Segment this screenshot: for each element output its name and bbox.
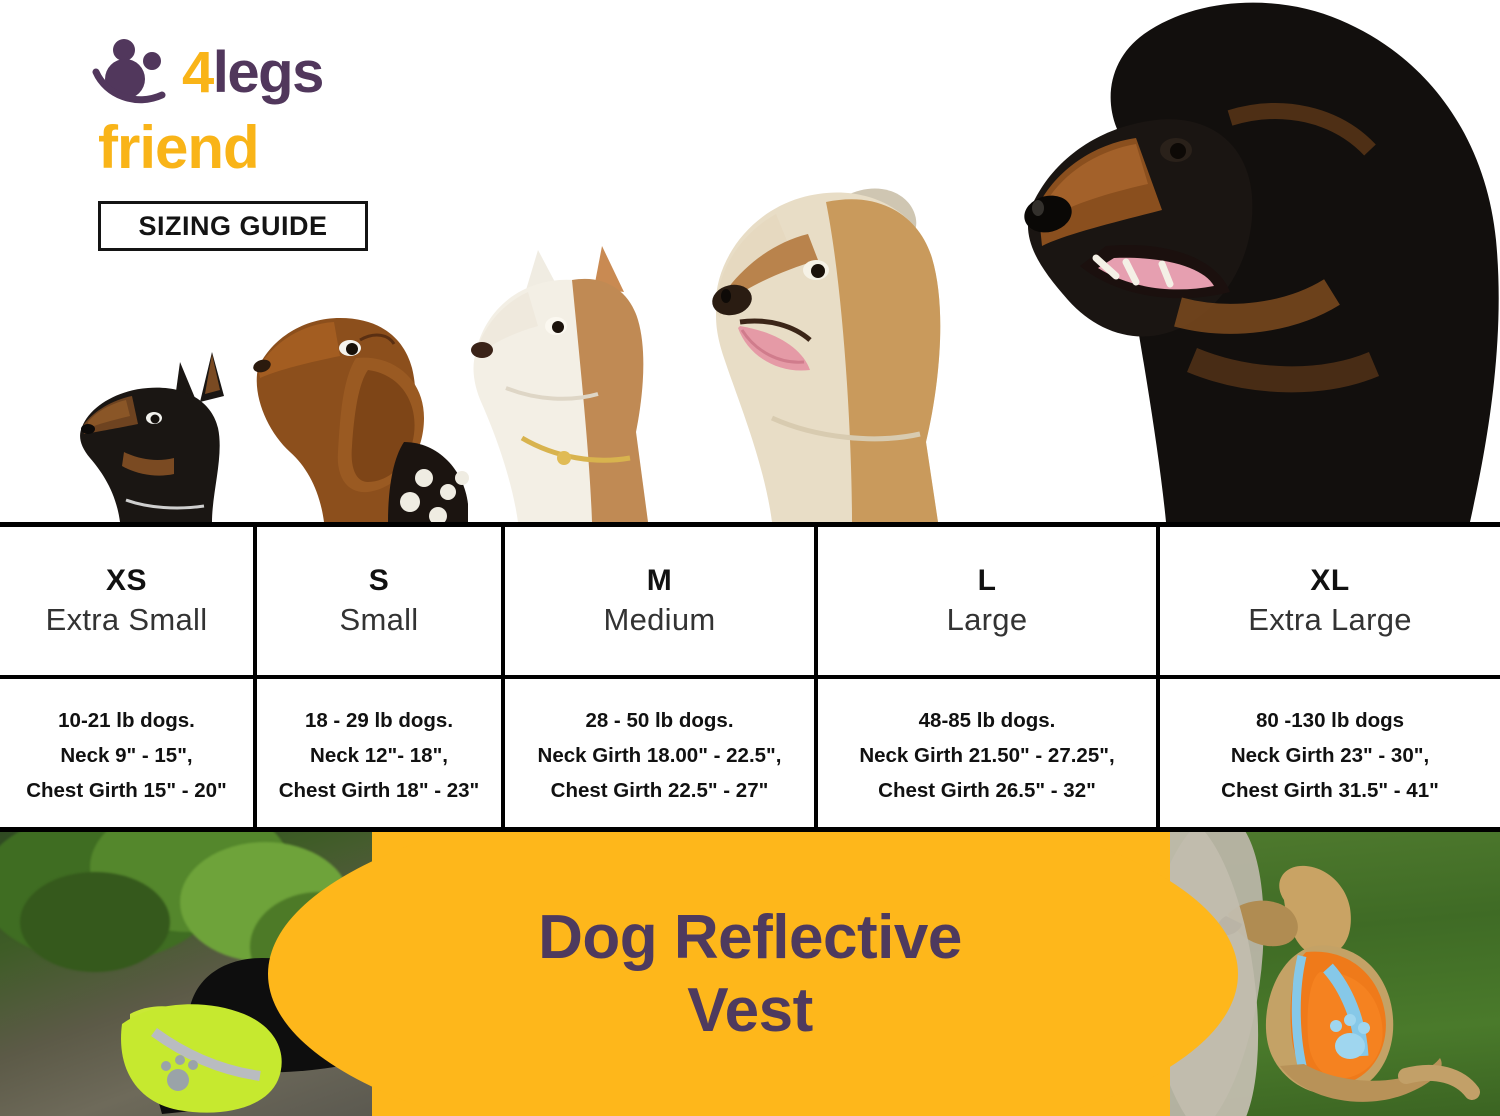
size-header-cell-l: L Large [818,527,1160,675]
banner-title: Dog Reflective Vest [300,832,1200,1116]
size-abbr-xs: XS [106,564,147,598]
spec-neck-m: Neck Girth 18.00" - 22.5", [538,738,782,773]
size-full-m: Medium [603,602,715,638]
spec-chest-xs: Chest Girth 15" - 20" [26,773,227,808]
banner-title-line-2: Vest [687,974,813,1047]
spec-weight-s: 18 - 29 lb dogs. [305,703,453,738]
logo-text-four: 4 [182,40,213,105]
size-table-header-row: XS Extra Small S Small M Medium L Large … [0,527,1500,675]
dog-photo-dachshund-hound [228,292,478,522]
dog-photo-american-staffordshire-terrier [452,222,702,522]
size-spec-cell-xs: 10-21 lb dogs. Neck 9" - 15", Chest Girt… [0,679,257,832]
spec-neck-l: Neck Girth 21.50" - 27.25", [859,738,1114,773]
spec-chest-l: Chest Girth 26.5" - 32" [878,773,1096,808]
size-spec-cell-xl: 80 -130 lb dogs Neck Girth 23" - 30", Ch… [1160,679,1500,832]
size-header-cell-xl: XL Extra Large [1160,527,1500,675]
spec-neck-s: Neck 12"- 18", [310,738,448,773]
spec-weight-m: 28 - 50 lb dogs. [585,703,733,738]
size-spec-cell-m: 28 - 50 lb dogs. Neck Girth 18.00" - 22.… [505,679,818,832]
hero-section: 4legs friend SIZING GUIDE [0,0,1500,522]
logo-text-legs: legs [213,40,323,105]
four-legs-friend-logo-icon [92,37,178,109]
size-full-xl: Extra Large [1248,602,1412,638]
spec-neck-xl: Neck Girth 23" - 30", [1231,738,1429,773]
sizing-guide-infographic: 4legs friend SIZING GUIDE XS Extra Small… [0,0,1500,1116]
brand-logo-block: 4legs friend SIZING GUIDE [92,34,392,251]
size-abbr-m: M [647,564,673,598]
product-banner: Dog Reflective Vest [0,832,1500,1116]
logo-text-friend: friend [98,116,392,179]
size-header-cell-xs: XS Extra Small [0,527,257,675]
dog-photo-tibetan-mastiff [930,0,1500,522]
spec-weight-xs: 10-21 lb dogs. [58,703,195,738]
spec-weight-xl: 80 -130 lb dogs [1256,703,1404,738]
logo-row: 4legs [92,34,392,112]
logo-wordmark: 4legs [182,44,323,102]
banner-title-line-1: Dog Reflective [538,901,962,974]
spec-weight-l: 48-85 lb dogs. [919,703,1056,738]
size-full-l: Large [947,602,1028,638]
spec-chest-s: Chest Girth 18" - 23" [279,773,480,808]
sizing-guide-badge-label: SIZING GUIDE [138,211,327,242]
size-table: XS Extra Small S Small M Medium L Large … [0,522,1500,832]
size-header-cell-s: S Small [257,527,505,675]
spec-chest-xl: Chest Girth 31.5" - 41" [1221,773,1439,808]
size-abbr-xl: XL [1310,564,1349,598]
size-abbr-l: L [978,564,997,598]
size-table-measurement-row: 10-21 lb dogs. Neck 9" - 15", Chest Girt… [0,675,1500,832]
size-spec-cell-s: 18 - 29 lb dogs. Neck 12"- 18", Chest Gi… [257,679,505,832]
size-header-cell-m: M Medium [505,527,818,675]
spec-neck-xs: Neck 9" - 15", [60,738,192,773]
size-full-s: Small [339,602,418,638]
size-full-xs: Extra Small [46,602,208,638]
size-abbr-s: S [369,564,390,598]
size-spec-cell-l: 48-85 lb dogs. Neck Girth 21.50" - 27.25… [818,679,1160,832]
sizing-guide-badge: SIZING GUIDE [98,201,368,251]
spec-chest-m: Chest Girth 22.5" - 27" [551,773,769,808]
